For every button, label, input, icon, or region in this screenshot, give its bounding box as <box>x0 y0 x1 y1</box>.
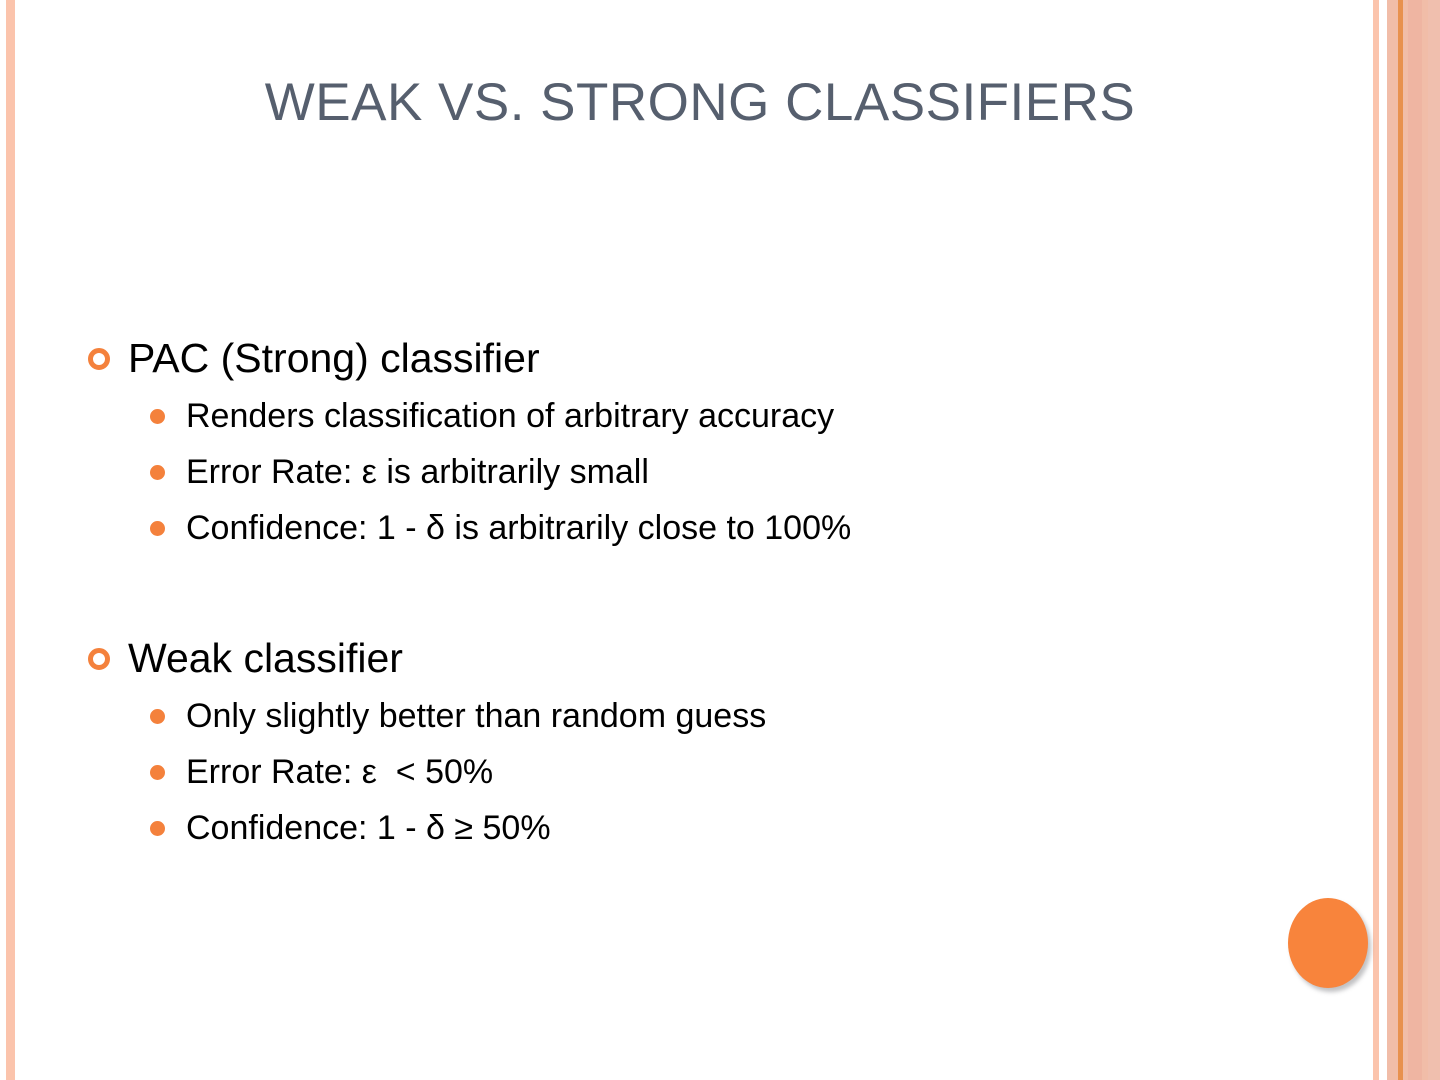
group-heading: Weak classifier <box>128 630 403 686</box>
hollow-circle-bullet-icon <box>88 630 128 686</box>
list-item: Only slightly better than random guess <box>88 690 1288 742</box>
list-item: Confidence: 1 - δ ≥ 50% <box>88 802 1288 854</box>
list-item-label: Confidence: 1 - δ ≥ 50% <box>186 802 551 854</box>
group-spacer <box>88 558 1288 630</box>
dot-bullet-icon <box>88 390 186 442</box>
dot-bullet-icon <box>88 746 186 798</box>
right-edge-accent-line <box>1398 0 1403 1080</box>
right-edge-thin-stripe <box>1373 0 1379 1080</box>
list-item-label: Error Rate: ε < 50% <box>186 746 493 798</box>
list-item-label: Error Rate: ε is arbitrarily small <box>186 446 649 498</box>
group-heading: PAC (Strong) classifier <box>128 330 540 386</box>
right-edge-band-shade-one <box>1408 0 1422 1080</box>
slide: WEAK VS. STRONG CLASSIFIERS PAC (Strong)… <box>0 0 1440 1080</box>
dot-bullet-icon <box>88 690 186 742</box>
list-item-label: Confidence: 1 - δ is arbitrarily close t… <box>186 502 851 554</box>
list-item: Confidence: 1 - δ is arbitrarily close t… <box>88 502 1288 554</box>
left-edge-stripe <box>6 0 15 1080</box>
dot-bullet-icon <box>88 802 186 854</box>
list-item: Renders classification of arbitrary accu… <box>88 390 1288 442</box>
dot-bullet-icon <box>88 446 186 498</box>
dot-bullet-icon <box>88 502 186 554</box>
decorative-orange-circle <box>1288 898 1368 988</box>
page-title: WEAK VS. STRONG CLASSIFIERS <box>110 72 1290 134</box>
right-edge-band-shade-two <box>1428 0 1440 1080</box>
list-item: PAC (Strong) classifier <box>88 330 1288 386</box>
list-item-label: Renders classification of arbitrary accu… <box>186 390 834 442</box>
list-item-label: Only slightly better than random guess <box>186 690 766 742</box>
list-item: Error Rate: ε is arbitrarily small <box>88 446 1288 498</box>
list-item: Weak classifier <box>88 630 1288 686</box>
list-item: Error Rate: ε < 50% <box>88 746 1288 798</box>
hollow-circle-bullet-icon <box>88 330 128 386</box>
slide-body: PAC (Strong) classifier Renders classifi… <box>88 330 1288 858</box>
